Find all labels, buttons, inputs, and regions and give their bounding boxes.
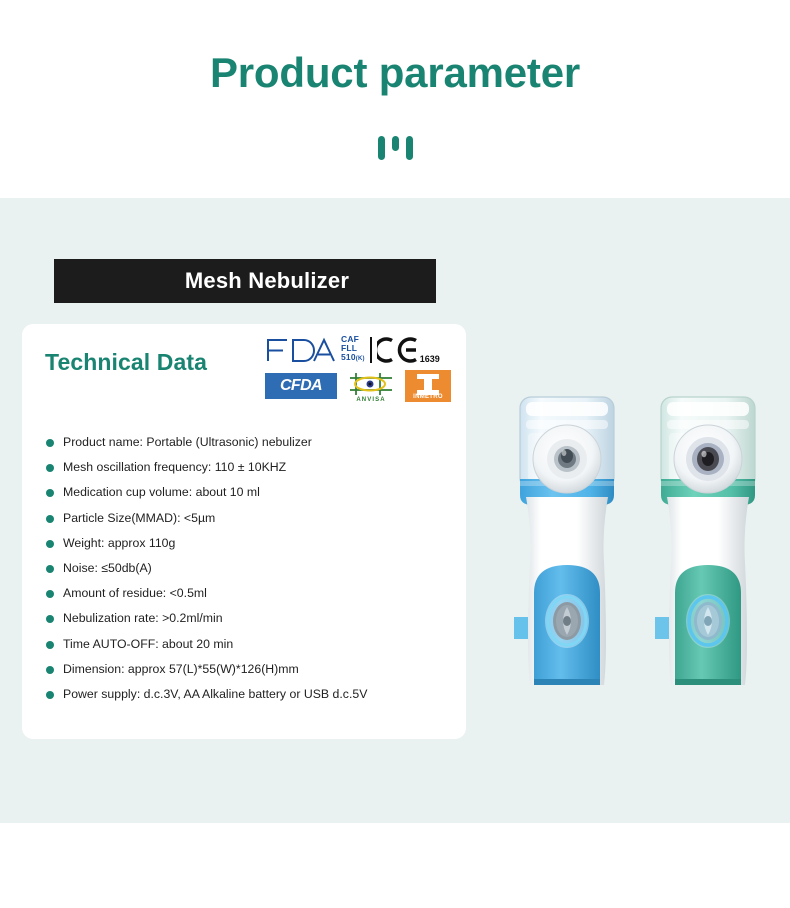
anvisa-icon: ANVISA <box>347 370 395 402</box>
product-images <box>496 393 790 703</box>
spec-text: Nebulization rate: >0.2ml/min <box>63 610 223 627</box>
section-banner: Mesh Nebulizer <box>54 259 436 303</box>
list-item: Medication cup volume: about 10 ml <box>22 484 466 509</box>
cfda-icon: CFDA <box>265 373 337 399</box>
bullet-icon <box>46 464 54 472</box>
inmetro-icon: INMETRO <box>405 370 451 402</box>
caf-fll-510k-label: CAF FLL 510(K) <box>341 335 365 364</box>
ce-mark-icon <box>377 336 419 364</box>
technical-data-title: Technical Data <box>45 349 207 376</box>
main-content-section: Mesh Nebulizer Technical Data <box>0 198 790 823</box>
list-item: Time AUTO-OFF: about 20 min <box>22 636 466 661</box>
ce-notified-body-number: 1639 <box>420 354 440 367</box>
list-item: Weight: approx 110g <box>22 535 466 560</box>
fda-icon <box>265 337 337 363</box>
spec-text: Dimension: approx 57(L)*55(W)*126(H)mm <box>63 661 299 678</box>
anvisa-label: ANVISA <box>347 397 395 403</box>
list-item: Power supply: d.c.3V, AA Alkaline batter… <box>22 686 466 711</box>
bullet-icon <box>46 489 54 497</box>
cfda-label: CFDA <box>280 377 322 395</box>
certification-row-top: CAF FLL 510(K) <box>265 332 461 367</box>
spec-text: Mesh oscillation frequency: 110 ± 10KHZ <box>63 459 286 476</box>
bullet-icon <box>46 439 54 447</box>
cert-divider <box>370 337 372 363</box>
spec-text: Time AUTO-OFF: about 20 min <box>63 636 233 653</box>
product-image-blue-nebulizer <box>506 393 628 698</box>
hero-section: Product parameter <box>0 0 790 198</box>
technical-data-header: Technical Data CAF <box>22 324 466 408</box>
bullet-icon <box>46 540 54 548</box>
list-item: Product name: Portable (Ultrasonic) nebu… <box>22 434 466 459</box>
bullet-icon <box>46 565 54 573</box>
page-title: Product parameter <box>0 47 790 99</box>
certification-row-bottom: CFDA ANVISA <box>265 369 461 403</box>
list-item: Mesh oscillation frequency: 110 ± 10KHZ <box>22 459 466 484</box>
bullet-icon <box>46 515 54 523</box>
spec-text: Product name: Portable (Ultrasonic) nebu… <box>63 434 312 451</box>
specification-list: Product name: Portable (Ultrasonic) nebu… <box>22 434 466 711</box>
list-item: Dimension: approx 57(L)*55(W)*126(H)mm <box>22 661 466 686</box>
product-image-green-nebulizer <box>647 393 769 698</box>
technical-data-card: Technical Data CAF <box>22 324 466 739</box>
bullet-icon <box>46 666 54 674</box>
deco-bar-left <box>378 136 385 160</box>
spec-text: Medication cup volume: about 10 ml <box>63 484 260 501</box>
bullet-icon <box>46 590 54 598</box>
list-item: Amount of residue: <0.5ml <box>22 585 466 610</box>
deco-bar-middle <box>392 136 399 151</box>
spec-text: Power supply: d.c.3V, AA Alkaline batter… <box>63 686 367 703</box>
title-decoration-bars <box>0 136 790 166</box>
bullet-icon <box>46 615 54 623</box>
list-item: Nebulization rate: >0.2ml/min <box>22 610 466 635</box>
section-banner-label: Mesh Nebulizer <box>141 268 349 294</box>
bullet-icon <box>46 641 54 649</box>
inmetro-label: INMETRO <box>405 394 451 400</box>
footer-whitespace <box>0 823 790 908</box>
spec-text: Noise: ≤50db(A) <box>63 560 152 577</box>
bullet-icon <box>46 691 54 699</box>
spec-text: Weight: approx 110g <box>63 535 175 552</box>
deco-bar-right <box>406 136 413 160</box>
list-item: Particle Size(MMAD): <5µm <box>22 510 466 535</box>
list-item: Noise: ≤50db(A) <box>22 560 466 585</box>
certification-logos: CAF FLL 510(K) <box>265 332 461 403</box>
spec-text: Amount of residue: <0.5ml <box>63 585 207 602</box>
spec-text: Particle Size(MMAD): <5µm <box>63 510 215 527</box>
